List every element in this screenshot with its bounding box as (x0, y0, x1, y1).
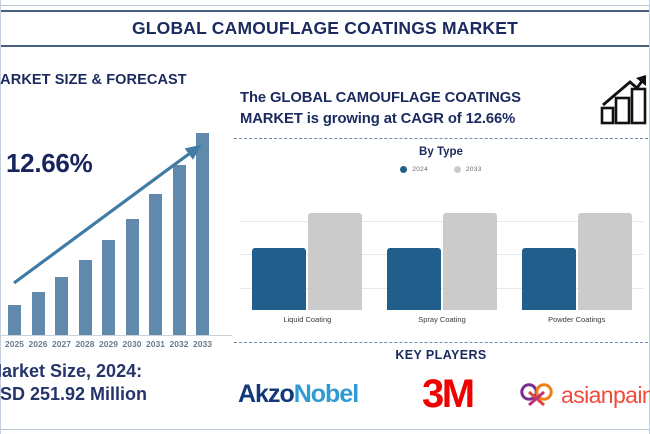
growth-trend-arrow (0, 120, 232, 335)
key-players-title: KEY PLAYERS (232, 348, 650, 362)
growth-chart-axis (0, 335, 232, 336)
growth-headline-line2: MARKET is growing at CAGR of 12.66% (240, 109, 600, 130)
separator-bottom (234, 342, 648, 343)
type-bar-2024 (522, 248, 576, 310)
frame-top-rule (0, 5, 650, 6)
type-category-label: Spray Coating (382, 315, 502, 324)
key-players-logos: AkzoNobel 3M asianpaints (232, 370, 650, 426)
logo-3m: 3M (422, 372, 473, 417)
type-bar-2033 (308, 213, 362, 310)
market-size-amount: USD 251.92 Million (0, 383, 237, 406)
by-type-legend: 20242033 (232, 166, 650, 173)
growth-headline: The GLOBAL CAMOUFLAGE COATINGS MARKET is… (240, 88, 600, 130)
logo-asianpaints-text: asianpaints (561, 382, 650, 409)
growth-chart-year-label: 2027 (49, 339, 75, 349)
growth-chart-year-label: 2025 (2, 339, 28, 349)
type-bar-2024 (252, 248, 306, 310)
legend-swatch-icon (400, 166, 407, 173)
logo-akzonobel-part1: Akzo (238, 380, 294, 408)
title-bottom-rule (0, 45, 650, 47)
growth-chart-year-labels: 202520262027202820292030203120322033 (0, 339, 232, 355)
market-size-label: Market Size, 2024: (0, 360, 237, 383)
asianpaints-mark-icon (520, 383, 554, 409)
title-top-rule (0, 10, 650, 12)
growth-chart-year-label: 2026 (25, 339, 51, 349)
growth-headline-line1: The GLOBAL CAMOUFLAGE COATINGS (240, 88, 600, 109)
legend-label: 2024 (412, 166, 428, 173)
market-size-forecast-heading: MARKET SIZE & FORECAST (0, 72, 218, 88)
page-title: GLOBAL CAMOUFLAGE COATINGS MARKET (0, 13, 650, 44)
growth-chart-year-label: 2029 (96, 339, 122, 349)
growth-chart-year-label: 2030 (119, 339, 145, 349)
type-category-label: Powder Coatings (517, 315, 637, 324)
legend-item[interactable]: 2033 (454, 166, 482, 173)
right-panel: The GLOBAL CAMOUFLAGE COATINGS MARKET is… (232, 50, 650, 434)
legend-item[interactable]: 2024 (400, 166, 428, 173)
type-bar-2033 (578, 213, 632, 310)
logo-akzonobel-part2b: Nobel (294, 380, 358, 408)
type-category-label: Liquid Coating (247, 315, 367, 324)
by-type-bar-chart (240, 186, 644, 310)
bar-chart-rising-arrow-icon (600, 75, 648, 125)
market-size-forecast-panel: MARKET SIZE & FORECAST 12.66% 2025202620… (0, 50, 232, 434)
growth-chart-year-label: 2032 (166, 339, 192, 349)
logo-asianpaints: asianpaints (520, 382, 650, 409)
type-bar-2024 (387, 248, 441, 310)
legend-label: 2033 (466, 166, 482, 173)
infographic-root: GLOBAL CAMOUFLAGE COATINGS MARKET MARKET… (0, 0, 650, 434)
separator-top (234, 138, 648, 139)
legend-swatch-icon (454, 166, 461, 173)
market-size-value: Market Size, 2024: USD 251.92 Million (0, 360, 237, 406)
type-bar-2033 (443, 213, 497, 310)
growth-chart-year-label: 2033 (190, 339, 216, 349)
growth-chart-year-label: 2028 (72, 339, 98, 349)
growth-chart-year-label: 2031 (143, 339, 169, 349)
by-type-title: By Type (232, 146, 650, 158)
logo-akzonobel: AkzoNobel (238, 380, 358, 409)
by-type-category-labels: Liquid CoatingSpray CoatingPowder Coatin… (240, 315, 644, 329)
